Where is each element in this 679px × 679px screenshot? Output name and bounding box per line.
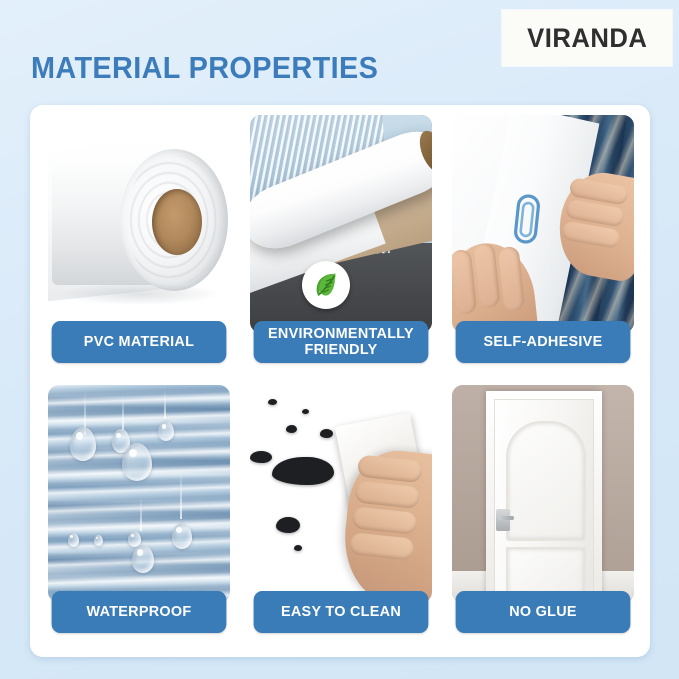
feature-label-no-glue: NO GLUE [456,591,631,633]
feature-label-waterproof: WATERPROOF [52,591,227,633]
easy-to-clean-image [250,385,432,603]
waterproof-image [48,385,230,603]
self-adhesive-image [452,115,634,333]
environmentally-friendly-image [250,115,432,333]
pvc-roll-image [48,115,230,333]
feature-panel-easy-to-clean[interactable]: EASY TO CLEAN [250,385,432,633]
leaf-icon [302,261,350,309]
feature-label-easy-to-clean: EASY TO CLEAN [254,591,429,633]
brand-name: VIRANDA [527,23,647,54]
feature-label-environmentally-friendly: ENVIRONMENTALLYFRIENDLY [254,321,429,363]
brand-logo: VIRANDA [502,10,672,66]
no-glue-image [452,385,634,603]
feature-panel-pvc-material[interactable]: PVC MATERIAL [48,115,230,363]
feature-panel-waterproof[interactable]: WATERPROOF [48,385,230,633]
paperclip-icon [511,192,542,246]
feature-panel-self-adhesive[interactable]: SELF-ADHESIVE [452,115,634,363]
feature-label-pvc-material: PVC MATERIAL [52,321,227,363]
features-grid: PVC MATERIAL [48,115,634,649]
feature-label-self-adhesive: SELF-ADHESIVE [456,321,631,363]
page-title: MATERIAL PROPERTIES [31,50,378,86]
feature-panel-no-glue[interactable]: NO GLUE [452,385,634,633]
door-handle [496,509,510,531]
infographic-page: VIRANDA MATERIAL PROPERTIES PVC MATERIAL [0,0,679,679]
features-card: PVC MATERIAL [30,105,650,657]
feature-panel-environmentally-friendly[interactable]: ENVIRONMENTALLYFRIENDLY [250,115,432,363]
